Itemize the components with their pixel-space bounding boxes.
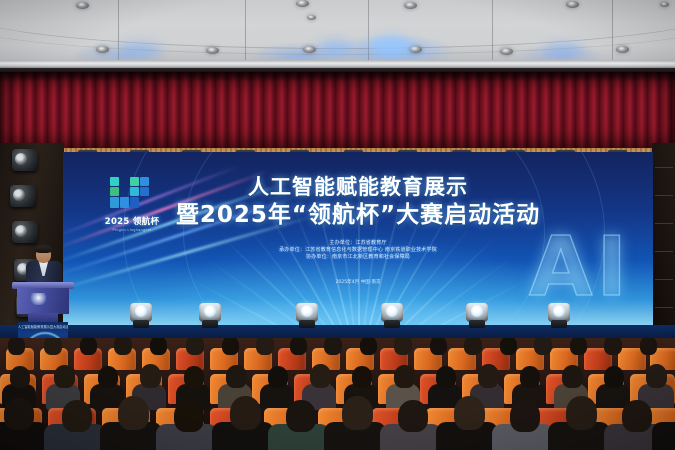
audience-head [604,338,622,355]
ceiling-downlight [303,46,316,53]
stage-curtain [0,72,675,155]
audience-head [98,366,118,388]
ceiling-panel-seam [368,0,369,63]
right-side-wall [652,143,675,343]
audience-head [256,338,274,355]
truss-moving-light [12,149,38,171]
ceiling-downlight [76,2,89,9]
audience-head [222,338,239,355]
podium-logo [30,293,47,305]
audience-head [184,366,204,388]
led-display-screen: AI 2025 领航杯 Pinghu Linghangbei 人工智能赋能教育展… [63,152,653,327]
audience-head [114,338,132,355]
audience-head [394,338,412,355]
ceiling-panel-seam [612,0,613,63]
ceiling-downlight [404,2,417,9]
audience-head [562,365,583,388]
audience-head [394,365,415,388]
ceiling [0,0,675,63]
audience-head [324,338,342,355]
organizer-block: 主办单位：江苏省教育厅 承办单位：江苏省教育信息化与数据管理中心 南京铁道职业技… [63,240,653,261]
audience-head [140,364,161,388]
audience-head [360,338,377,355]
event-photo-scene: AI 2025 领航杯 Pinghu Linghangbei 人工智能赋能教育展… [0,0,675,450]
ceiling-panel-seam [492,0,493,63]
audience-area [0,338,675,450]
ceiling-downlight [296,0,309,7]
ceiling-blue-wash [370,36,412,56]
ceiling-downlight [566,1,579,8]
curtain-top-shadow [0,72,675,82]
ceiling-downlight [616,46,629,53]
audience-head [534,338,552,355]
audience-head [640,338,657,355]
audience-head [398,400,428,432]
moving-head-light [199,302,221,328]
audience-head [352,366,372,388]
audience-head [186,338,204,355]
audience-head [430,338,447,355]
audience-head [118,396,149,430]
audience-head [150,338,167,355]
truss-moving-light [12,221,38,243]
audience-head [510,400,540,432]
ceiling-blue-wash [544,42,584,56]
audience-head [44,338,62,355]
audience-head [310,364,331,388]
audience-head [566,396,597,430]
audience-head [478,364,499,388]
audience-head [8,338,25,355]
audience-head [604,366,624,388]
ceiling-downlight [500,48,513,55]
organizer-line: 协办单位：南京市江北新区教育和社会保障局 [63,254,653,261]
ceiling-downlight [307,15,316,20]
screen-title-line-2: 暨2025年“领航杯”大赛启动活动 [63,201,653,230]
ceiling-downlight [660,2,669,7]
ceiling-downlight [96,46,109,53]
truss-moving-light [10,185,36,207]
ceiling-panel-seam [118,0,119,63]
audience-head [464,338,482,355]
screen-date-line: 2025年4月 中国·南京 [63,280,653,286]
audience-head [62,400,92,432]
screen-title-line-1: 人工智能赋能教育展示 [63,174,653,200]
audience-head [500,338,517,355]
audience-head [646,364,667,388]
audience-head [342,396,373,430]
moving-head-light [130,302,152,328]
organizer-line: 承办单位：江苏省教育信息化与数据管理中心 南京铁道职业技术学院 [63,247,653,254]
podium-panel-text: 人工智能赋能教育展示暨大赛启动活动 [18,324,68,329]
audience-head [436,366,456,388]
audience-head [286,400,316,432]
audience-head [226,365,247,388]
audience-head [230,396,261,430]
audience-head [570,338,587,355]
ceiling-panel-seam [245,0,246,63]
audience-head [54,365,75,388]
moving-head-light [466,302,488,328]
audience-head [80,338,97,355]
ceiling-blue-wash [318,40,352,56]
moving-head-light [381,302,403,328]
ceiling-downlight [206,47,219,54]
moving-head-light [296,302,318,328]
audience-head [4,398,34,430]
audience-head [622,400,652,432]
ceiling-blue-wash [118,42,162,57]
audience-head [520,366,540,388]
audience-head [10,366,30,388]
audience-head [290,338,307,355]
audience-head [454,396,485,430]
screen-title-block: 人工智能赋能教育展示 暨2025年“领航杯”大赛启动活动 [63,174,653,230]
moving-head-light [548,302,570,328]
organizer-line: 主办单位：江苏省教育厅 [63,240,653,247]
audience-head [174,400,204,432]
audience-head [268,366,288,388]
